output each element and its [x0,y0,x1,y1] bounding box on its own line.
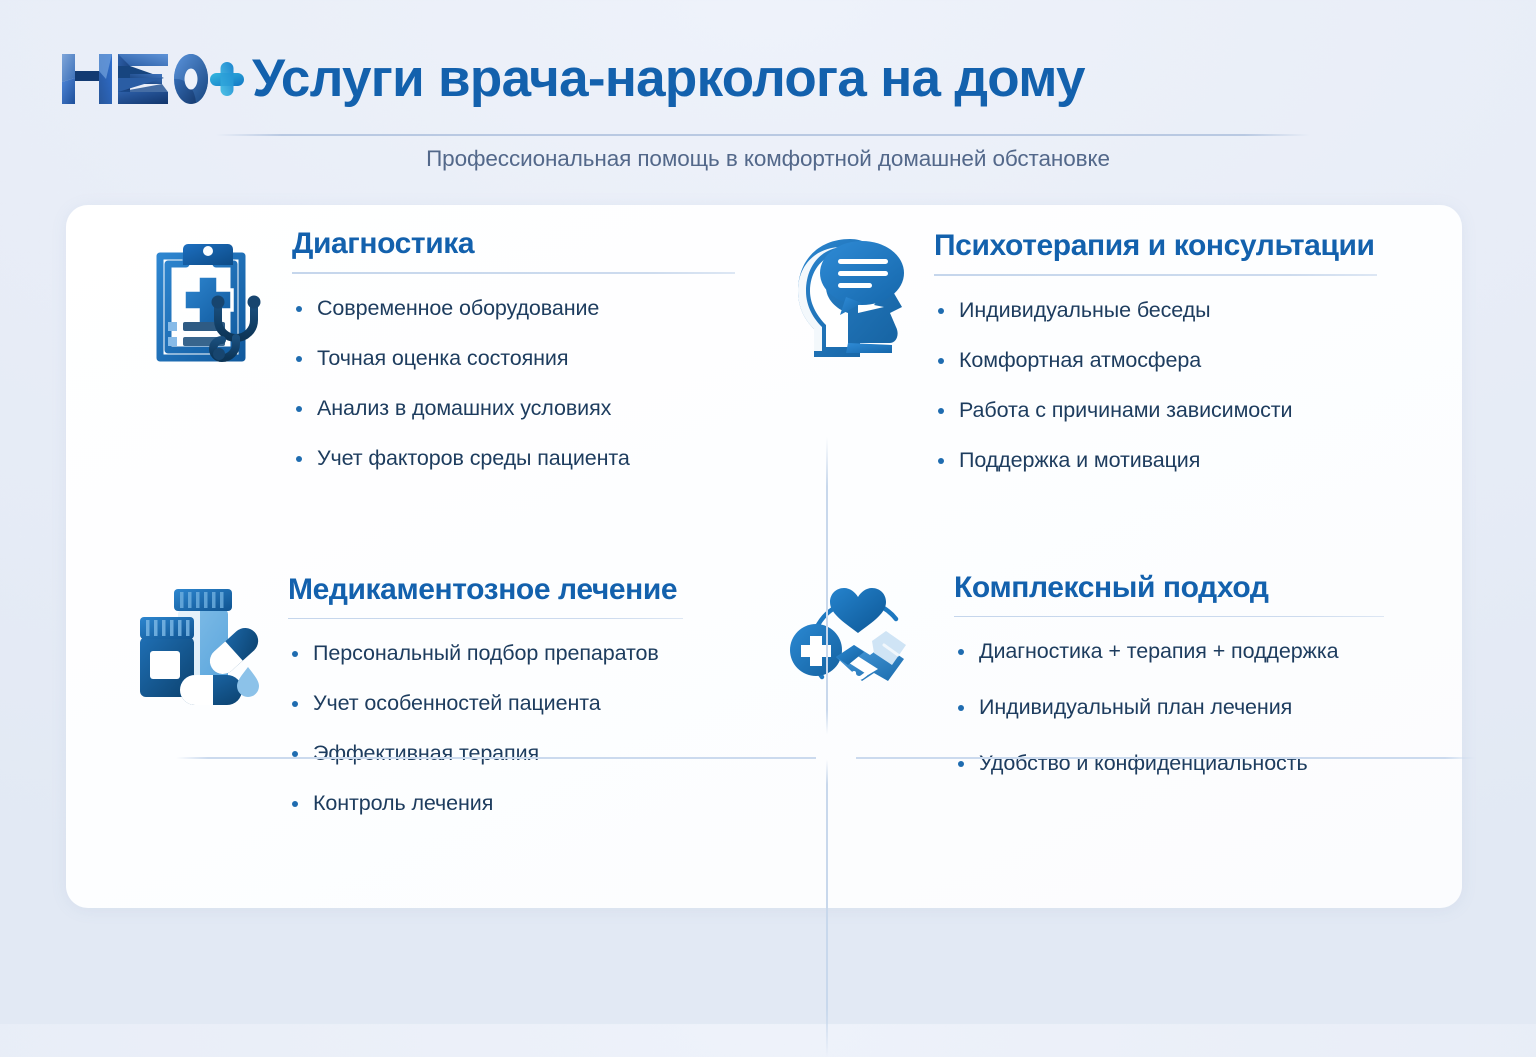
list-item: Поддержка и мотивация [934,446,1462,474]
list-item: Контроль лечения [288,789,764,817]
card-title: Комплексный подход [954,569,1462,607]
horizontal-divider-right [856,757,1476,759]
card-title-rule [934,274,1377,276]
header-divider [216,134,1310,136]
service-card-medication: Медикаментозное лечение Персональный под… [66,557,764,909]
vertical-divider [826,437,828,1057]
service-card-complex-approach: Комплексный подход Диагностика + терапия… [764,557,1462,909]
card-title-rule [292,272,735,274]
page-subtitle: Профессиональная помощь в комфортной дом… [0,146,1536,172]
list-item: Учет особенностей пациента [288,689,764,717]
list-item: Персональный подбор препаратов [288,639,764,667]
list-item: Комфортная атмосфера [934,346,1462,374]
list-item: Диагностика + терапия + поддержка [954,637,1462,665]
services-grid: Диагностика Современное оборудование Точ… [66,205,1462,908]
page-title: Услуги врача-нарколога на дому [252,46,1085,112]
card-bullet-list: Персональный подбор препаратов Учет особ… [288,639,764,817]
neo-plus-logo [58,48,246,110]
list-item: Удобство и конфиденциальность [954,749,1462,777]
card-bullet-list: Индивидуальные беседы Комфортная атмосфе… [934,296,1462,474]
list-item: Точная оценка состояния [292,344,764,372]
card-title-rule [288,618,683,620]
card-bullet-list: Современное оборудование Точная оценка с… [292,294,764,472]
list-item: Современное оборудование [292,294,764,322]
service-card-diagnostics: Диагностика Современное оборудование Точ… [66,205,764,557]
list-item: Индивидуальный план лечения [954,693,1462,721]
heart-handshake-cross-icon [788,583,930,695]
horizontal-divider-left [176,757,816,759]
card-title: Медикаментозное лечение [288,571,764,609]
list-item: Эффективная терапия [288,739,764,767]
service-card-psychotherapy: Психотерапия и консультации Индивидуальн… [764,205,1462,557]
clipboard-stethoscope-icon [144,234,272,370]
card-title: Психотерапия и консультации [934,227,1462,265]
card-title: Диагностика [292,225,764,263]
list-item: Анализ в домашних условиях [292,394,764,422]
card-title-rule [954,616,1384,618]
page-header: Услуги врача-нарколога на дому Профессио… [0,0,1536,196]
list-item: Работа с причинами зависимости [934,396,1462,424]
head-speech-bubble-icon [792,235,908,361]
list-item: Учет факторов среды пациента [292,444,764,472]
medicine-bottles-pills-icon [126,583,266,713]
list-item: Индивидуальные беседы [934,296,1462,324]
services-panel: Диагностика Современное оборудование Точ… [66,205,1462,908]
